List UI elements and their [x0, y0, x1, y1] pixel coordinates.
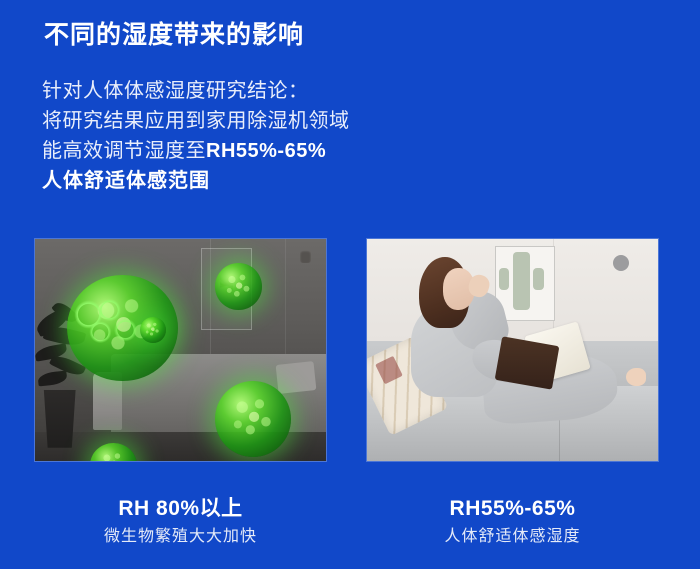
- cactus-icon: [513, 252, 530, 310]
- body-copy: 针对人体体感湿度研究结论： 将研究结果应用到家用除湿机领域 能高效调节湿度至RH…: [42, 76, 662, 196]
- wall-speaker-icon: [300, 250, 311, 263]
- wall-speaker-icon: [613, 255, 629, 271]
- caption-left: RH 80%以上 微生物繁殖大大加快: [34, 494, 327, 550]
- body-copy-line-4: 人体舒适体感范围: [42, 166, 662, 196]
- person-foot: [626, 368, 646, 386]
- body-copy-line-1: 针对人体体感湿度研究结论：: [42, 76, 662, 106]
- caption-right-main: RH55%-65%: [366, 494, 659, 524]
- heading-block: 不同的湿度带来的影响: [44, 18, 664, 52]
- photo-humid-room: [34, 238, 327, 462]
- photo-comfortable-room: [366, 238, 659, 462]
- bright-room-scene: [367, 239, 658, 461]
- caption-left-sub: 微生物繁殖大大加快: [34, 524, 327, 550]
- germ-icon: [215, 263, 262, 310]
- wall-seam-secondary: [285, 239, 286, 372]
- caption-right-sub: 人体舒适体感湿度: [366, 524, 659, 550]
- photo-humid-room-image: [35, 239, 326, 461]
- germ-icon: [215, 381, 291, 456]
- page-title: 不同的湿度带来的影响: [44, 18, 664, 52]
- caption-right: RH55%-65% 人体舒适体感湿度: [366, 494, 659, 550]
- caption-left-main: RH 80%以上: [34, 494, 327, 524]
- body-copy-line-3-prefix: 能高效调节湿度至: [42, 140, 206, 162]
- humidity-range-highlight: RH55%-65%: [206, 140, 326, 162]
- sofa-cushion: [275, 361, 316, 394]
- captions-row: RH 80%以上 微生物繁殖大大加快 RH55%-65% 人体舒适体感湿度: [0, 494, 700, 566]
- body-copy-line-2: 将研究结果应用到家用除湿机领域: [42, 106, 662, 136]
- photo-comfortable-room-image: [367, 239, 658, 461]
- photo-row: [0, 238, 700, 462]
- body-copy-line-3: 能高效调节湿度至RH55%-65%: [42, 136, 662, 166]
- promo-page: 不同的湿度带来的影响 针对人体体感湿度研究结论： 将研究结果应用到家用除湿机领域…: [0, 0, 700, 569]
- plant-leaf: [37, 371, 67, 387]
- germ-icon: [140, 317, 166, 344]
- dark-room-scene: [35, 239, 326, 461]
